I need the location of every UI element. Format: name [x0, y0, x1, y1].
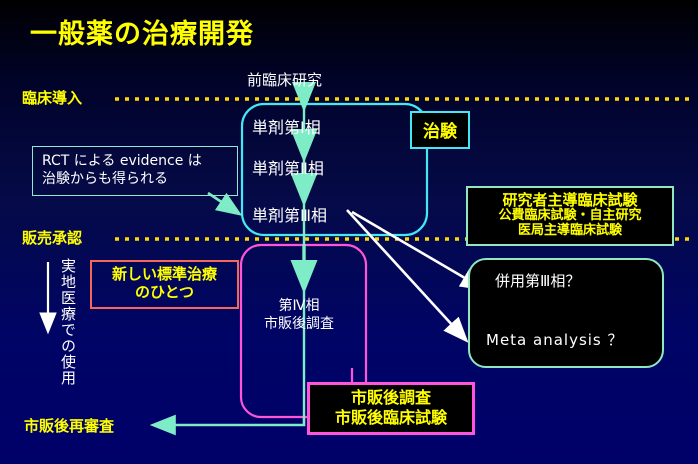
stage-label-clinical-introduction: 臨床導入 — [22, 90, 82, 107]
researcher-box-line1: 研究者主導臨床試験 — [472, 192, 668, 209]
node-phase4: 第Ⅳ相 市販後調査 — [264, 297, 334, 333]
callout-rct-evidence: RCT による evidence は 治験からも得られる — [32, 146, 238, 196]
pms-line2: 市販後臨床試験 — [312, 408, 470, 428]
pms-line1: 市販後調査 — [312, 388, 470, 408]
researcher-box-line2: 公費臨床試験・自主研究 — [472, 209, 668, 224]
question-meta-analysis: Meta analysis ？ — [486, 332, 624, 349]
arrow-phase3-to-combination — [352, 212, 482, 288]
new-standard-line2: のひとつ — [98, 283, 231, 301]
node-preclinical-research: 前臨床研究 — [247, 72, 322, 89]
node-phase2: 単剤第Ⅱ相 — [252, 160, 324, 178]
node-phase3: 単剤第Ⅲ相 — [252, 207, 327, 225]
box-investigator-initiated-trials: 研究者主導臨床試験 公費臨床試験・自主研究 医局主導臨床試験 — [466, 186, 674, 246]
arrow-to-post-marketing-review — [155, 417, 304, 425]
slide-canvas: 一般薬の治療開発 臨床導入 販売承認 前臨床研究 単剤第Ⅰ相 単剤第Ⅱ相 単剤第… — [0, 0, 698, 464]
label-post-marketing-review: 市販後再審査 — [24, 418, 114, 435]
box-new-standard-therapy: 新しい標準治療 のひとつ — [90, 260, 239, 309]
node-phase4-line1: 第Ⅳ相 — [264, 297, 334, 315]
label-box-chiken: 治験 — [410, 111, 470, 149]
arrow-rct-to-phase3 — [208, 193, 238, 213]
researcher-box-line3: 医局主導臨床試験 — [472, 224, 668, 239]
box-post-marketing-studies: 市販後調査 市販後臨床試験 — [307, 382, 475, 435]
new-standard-line1: 新しい標準治療 — [98, 265, 231, 283]
question-combination-phase3: 併用第Ⅲ相？ — [495, 273, 580, 290]
callout-rct-line2: 治験からも得られる — [42, 170, 230, 188]
node-phase1: 単剤第Ⅰ相 — [252, 119, 321, 137]
box-research-questions: 併用第Ⅲ相？ Meta analysis ？ — [468, 258, 664, 368]
node-phase4-line2: 市販後調査 — [264, 315, 334, 333]
page-title: 一般薬の治療開発 — [30, 20, 254, 50]
arrow-phase3-to-meta — [347, 210, 465, 339]
label-practical-medical-use: 実地医療での使用 — [58, 258, 79, 386]
callout-rct-line1: RCT による evidence は — [42, 152, 230, 170]
stage-label-marketing-approval: 販売承認 — [22, 230, 82, 247]
